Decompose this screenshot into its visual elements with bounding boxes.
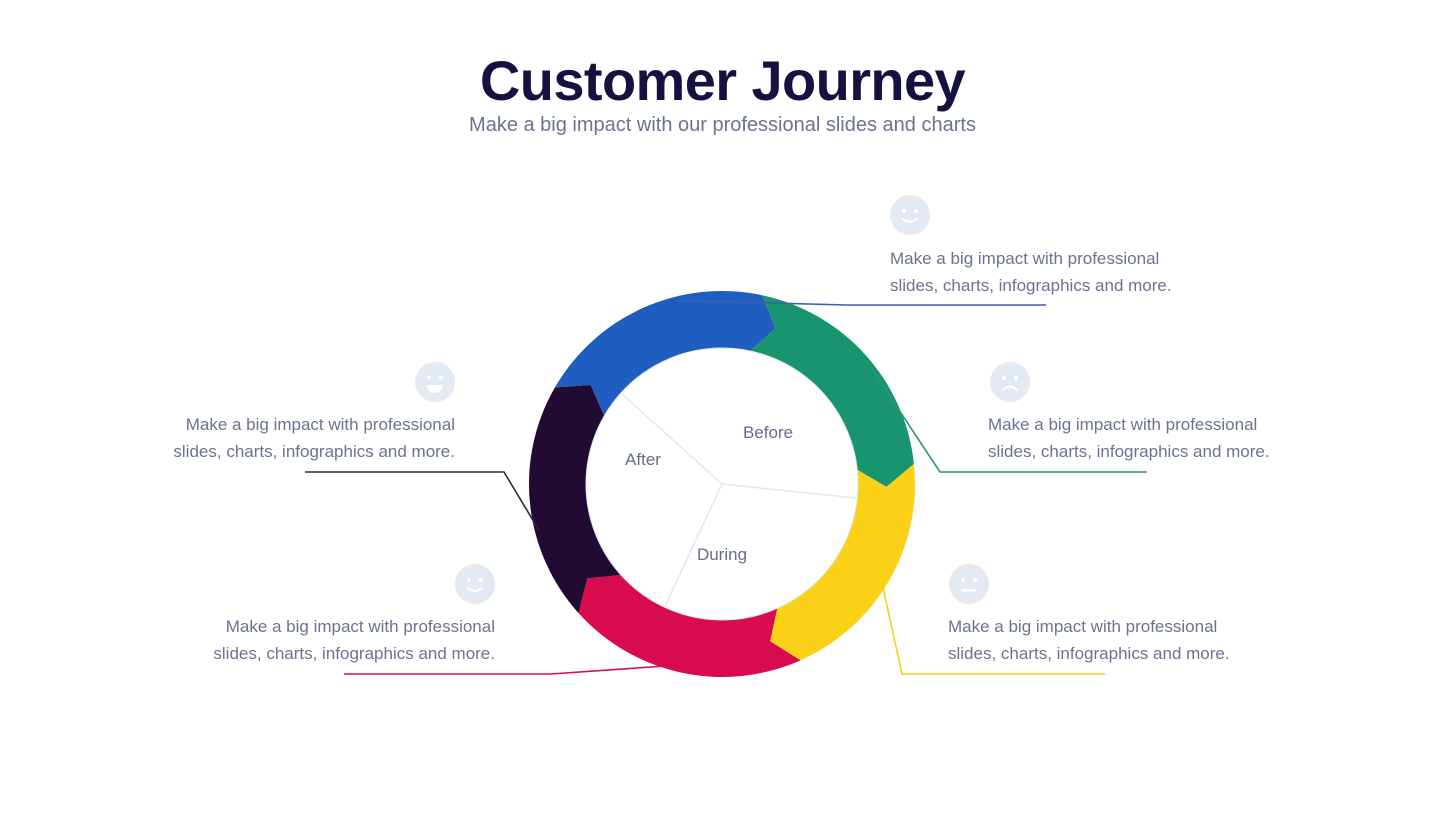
- smile-face-icon: [890, 195, 930, 235]
- callout-search: Make a big impact with professional slid…: [988, 411, 1328, 465]
- callout-awareness-line1: Make a big impact with professional: [890, 245, 1230, 272]
- wheel-label-search: Search: [0, 0, 43, 15]
- slide-canvas: Customer Journey Make a big impact with …: [0, 0, 1445, 814]
- callout-awareness-line2: slides, charts, infographics and more.: [890, 272, 1230, 299]
- callout-consider: Make a big impact with professional slid…: [948, 613, 1288, 667]
- wheel-label-awareness: Awareness: [0, 0, 67, 15]
- wheel-segment-labels: AwarenessSearchConsiderDecisionLoyalty: [0, 0, 67, 15]
- callout-search-line1: Make a big impact with professional: [988, 411, 1328, 438]
- callout-consider-line1: Make a big impact with professional: [948, 613, 1288, 640]
- smile-face-icon: [455, 564, 495, 604]
- inner-label-after: After: [625, 450, 661, 469]
- wheel-segment-decision[interactable]: [579, 575, 801, 677]
- customer-journey-wheel: AwarenessSearchConsiderDecisionLoyalty B…: [0, 0, 1445, 814]
- grin-face-icon: [415, 362, 455, 402]
- neutral-face-icon: [949, 564, 989, 604]
- inner-divider-0: [622, 394, 722, 484]
- callout-loyalty-line2: slides, charts, infographics and more.: [115, 438, 455, 465]
- inner-label-before: Before: [743, 423, 793, 442]
- connector-loyalty: [305, 472, 539, 530]
- wheel-label-decision: Decision: [0, 0, 53, 15]
- inner-label-during: During: [697, 545, 747, 564]
- callout-search-line2: slides, charts, infographics and more.: [988, 438, 1328, 465]
- callout-consider-line2: slides, charts, infographics and more.: [948, 640, 1288, 667]
- inner-divider-1: [722, 484, 856, 498]
- callout-decision-line2: slides, charts, infographics and more.: [155, 640, 495, 667]
- callout-loyalty-line1: Make a big impact with professional: [115, 411, 455, 438]
- callout-decision: Make a big impact with professional slid…: [155, 613, 495, 667]
- inner-dividers: [586, 348, 858, 620]
- wheel-label-consider: Consider: [0, 0, 55, 15]
- wheel-label-loyalty: Loyalty: [0, 0, 45, 15]
- callout-loyalty: Make a big impact with professional slid…: [115, 411, 455, 465]
- callout-decision-line1: Make a big impact with professional: [155, 613, 495, 640]
- sad-face-icon: [990, 362, 1030, 402]
- wheel-segment-search[interactable]: [750, 295, 914, 487]
- callout-awareness: Make a big impact with professional slid…: [890, 245, 1230, 299]
